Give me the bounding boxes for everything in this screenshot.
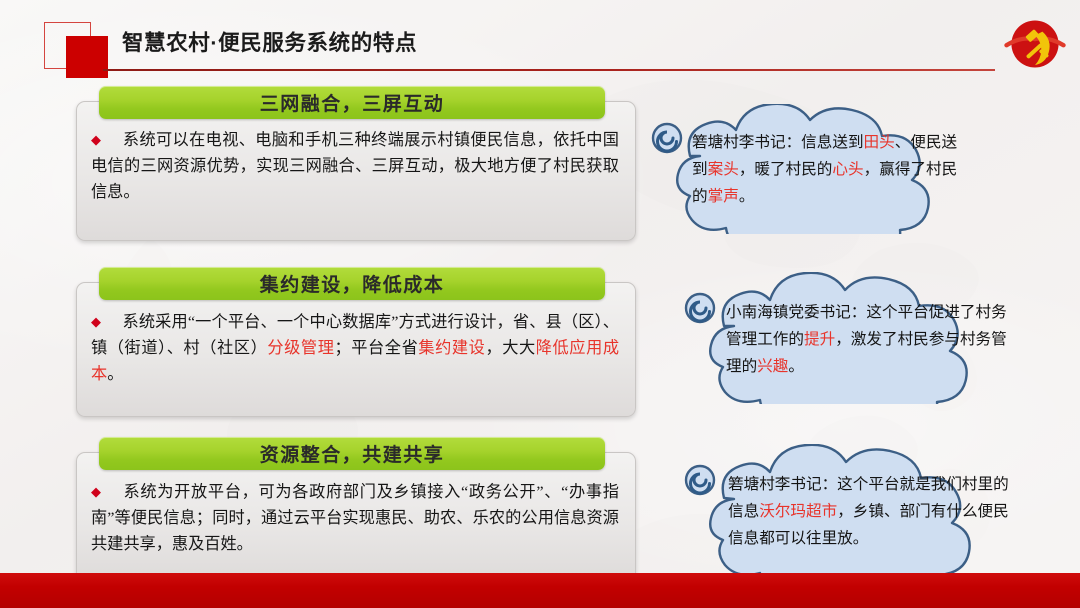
feature-panel-2: 集约建设，降低成本 ◆ 系统采用“一个平台、一个中心数据库”方式进行设计，省、县… <box>76 282 636 417</box>
feature-panel-1-title: 三网融合，三屏互动 <box>99 86 605 119</box>
testimonial-cloud-1-text: 箬塘村李书记：信息送到田头、便民送到案头，暖了村民的心头，赢得了村民的掌声。 <box>692 130 960 210</box>
slide-header: 智慧农村·便民服务系统的特点 <box>0 0 1080 82</box>
cpc-party-emblem-icon <box>1004 13 1066 75</box>
diamond-bullet-icon: ◆ <box>91 314 101 329</box>
feature-panel-1-body: ◆ 系统可以在电视、电脑和手机三种终端展示村镇便民信息，依托中国电信的三网资源优… <box>77 102 635 216</box>
feature-panel-2-title: 集约建设，降低成本 <box>99 267 605 300</box>
feature-panel-1-text: 系统可以在电视、电脑和手机三种终端展示村镇便民信息，依托中国电信的三网资源优势，… <box>91 131 619 201</box>
footer-red-bar <box>0 573 1080 608</box>
feature-panel-3: 资源整合，共建共享 ◆ 系统为开放平台，可为各政府部门及乡镇接入“政务公开”、“… <box>76 452 636 582</box>
header-divider-rule <box>103 69 995 71</box>
spiral-icon <box>686 466 714 494</box>
feature-panel-3-title: 资源整合，共建共享 <box>99 437 605 470</box>
testimonial-cloud-3: 箬塘村李书记：这个平台就是我们村里的信息沃尔玛超市，乡镇、部门有什么便民信息都可… <box>676 444 1028 577</box>
feature-panel-1: 三网融合，三屏互动 ◆ 系统可以在电视、电脑和手机三种终端展示村镇便民信息，依托… <box>76 101 636 241</box>
feature-panel-2-body: ◆ 系统采用“一个平台、一个中心数据库”方式进行设计，省、县（区）、镇（街道）、… <box>77 283 635 398</box>
slide-root: 智慧农村·便民服务系统的特点 三网融合，三屏互动 ◆ 系统可以在电 <box>0 0 1080 608</box>
feature-panel-3-text: 系统为开放平台，可为各政府部门及乡镇接入“政务公开”、“办事指南”等便民信息；同… <box>91 483 619 553</box>
testimonial-cloud-3-text: 箬塘村李书记：这个平台就是我们村里的信息沃尔玛超市，乡镇、部门有什么便民信息都可… <box>728 472 1016 552</box>
feature-panel-3-body: ◆ 系统为开放平台，可为各政府部门及乡镇接入“政务公开”、“办事指南”等便民信息… <box>77 453 635 568</box>
spiral-icon <box>653 124 681 152</box>
diamond-bullet-icon: ◆ <box>91 132 101 147</box>
page-title: 智慧农村·便民服务系统的特点 <box>122 26 417 57</box>
testimonial-cloud-2: 小南海镇党委书记：这个平台促进了村务管理工作的提升，激发了村民参与村务管理的兴趣… <box>676 272 1024 404</box>
testimonial-cloud-2-text: 小南海镇党委书记：这个平台促进了村务管理工作的提升，激发了村民参与村务管理的兴趣… <box>726 300 1010 380</box>
header-filled-square-decor <box>66 36 108 78</box>
testimonial-cloud-1: 箬塘村李书记：信息送到田头、便民送到案头，暖了村民的心头，赢得了村民的掌声。 <box>644 104 984 234</box>
diamond-bullet-icon: ◆ <box>91 484 102 499</box>
feature-panel-2-text: 系统采用“一个平台、一个中心数据库”方式进行设计，省、县（区）、镇（街道）、村（… <box>91 313 619 383</box>
spiral-icon <box>686 294 714 322</box>
